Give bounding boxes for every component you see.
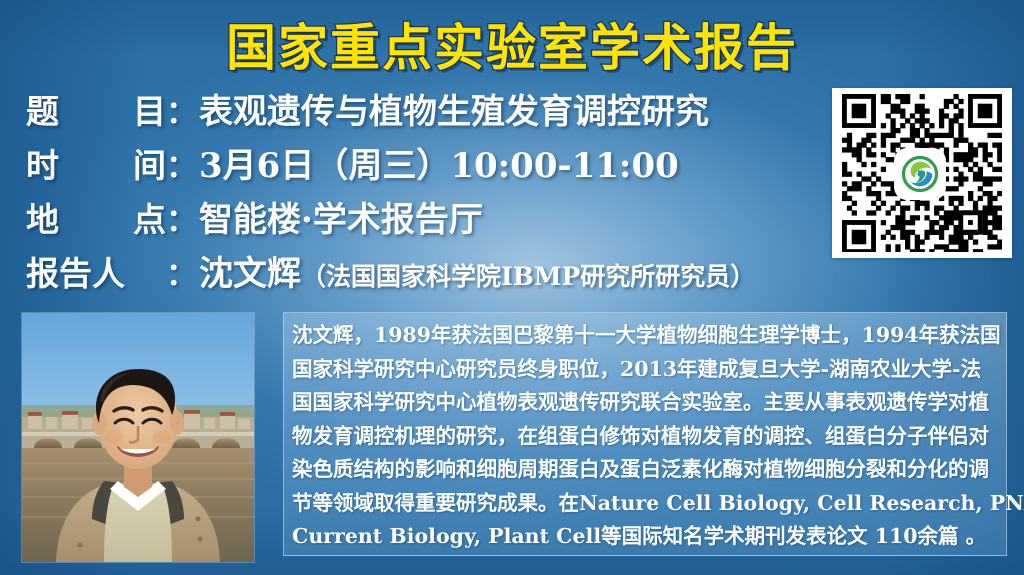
- info-row-topic: 题 目 ： 表观遗传与植物生殖发育调控研究: [26, 84, 816, 138]
- info-label-char: 时: [26, 139, 59, 187]
- info-value-time: 3月6日（周三）10:00-11:00: [199, 138, 679, 187]
- info-value-topic: 表观遗传与植物生殖发育调控研究: [199, 84, 709, 133]
- info-label-location: 地 点: [26, 193, 166, 241]
- info-colon: ：: [166, 195, 199, 240]
- bio-line: Current Biology, Plant Cell等国际知名学术期刊发表论文…: [292, 520, 996, 554]
- bio-line: 节等领域取得重要研究成果。在Nature Cell Biology, Cell …: [292, 487, 996, 521]
- page-title: 国家重点实验室学术报告: [0, 8, 1024, 80]
- info-label-char: 题: [26, 85, 59, 133]
- info-row-speaker: 报告人 ： 沈文辉 （法国国家科学院IBMP研究所研究员）: [26, 246, 816, 300]
- qr-code[interactable]: [832, 88, 1012, 258]
- info-label-speaker: 报告人: [26, 247, 166, 295]
- info-label-char: 报告人: [26, 247, 125, 295]
- info-row-time: 时 间 ： 3月6日（周三）10:00-11:00: [26, 138, 816, 192]
- info-value-speaker: 沈文辉: [199, 246, 301, 295]
- bio-line: 沈文辉，1989年获法国巴黎第十一大学植物细胞生理学博士，1994年获法国: [292, 319, 996, 353]
- seminar-info-block: 题 目 ： 表观遗传与植物生殖发育调控研究 时 间 ： 3月6日（周三）10:0…: [26, 84, 816, 300]
- info-label-time: 时 间: [26, 139, 166, 187]
- info-value-location: 智能楼·学术报告厅: [199, 192, 483, 241]
- info-value-speaker-affiliation: （法国国家科学院IBMP研究所研究员）: [301, 257, 755, 293]
- info-label-topic: 题 目: [26, 85, 166, 133]
- info-label-char: 点: [133, 193, 166, 241]
- info-label-char: 地: [26, 193, 59, 241]
- info-row-location: 地 点 ： 智能楼·学术报告厅: [26, 192, 816, 246]
- info-colon: ：: [166, 141, 199, 186]
- info-label-char: 间: [133, 139, 166, 187]
- bio-line: 国国家科学研究中心植物表观遗传研究联合实验室。主要从事表观遗传学对植: [292, 386, 996, 420]
- speaker-biography: 沈文辉，1989年获法国巴黎第十一大学植物细胞生理学博士，1994年获法国 国家…: [283, 312, 1007, 556]
- speaker-portrait: [22, 313, 254, 562]
- info-label-char: 目: [133, 85, 166, 133]
- wechat-official-account-logo: [896, 150, 944, 198]
- seminar-poster: 国家重点实验室学术报告 题 目 ： 表观遗传与植物生殖发育调控研究 时 间 ： …: [0, 0, 1024, 575]
- bio-line: 染色质结构的影响和细胞周期蛋白及蛋白泛素化酶对植物细胞分裂和分化的调: [292, 453, 996, 487]
- bio-line: 国家科学研究中心研究员终身职位，2013年建成复旦大学-湖南农业大学-法: [292, 353, 996, 387]
- info-colon: ：: [166, 249, 199, 294]
- bio-line: 物发育调控机理的研究，在组蛋白修饰对植物发育的调控、组蛋白分子伴侣对: [292, 420, 996, 454]
- info-colon: ：: [166, 87, 199, 132]
